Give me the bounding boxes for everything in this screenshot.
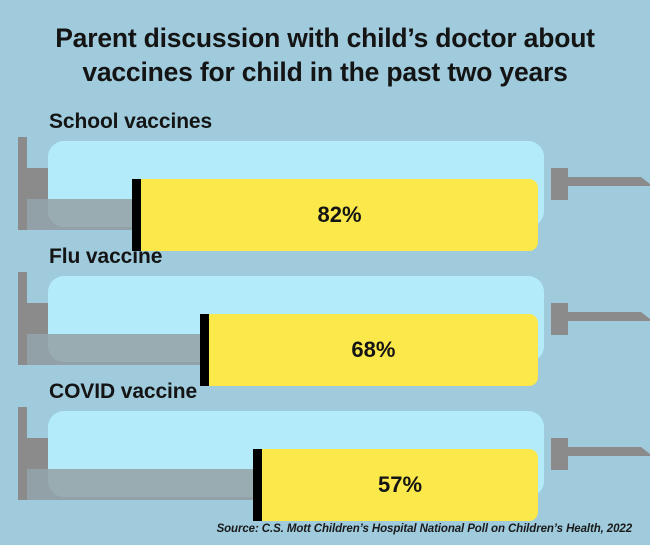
- syringe-row: COVID vaccine 57%: [0, 380, 650, 515]
- row-label: COVID vaccine: [49, 380, 197, 404]
- value-fill-bar: 68%: [209, 314, 538, 386]
- plunger-rod-inside-icon: [26, 199, 132, 230]
- infographic-canvas: Parent discussion with child’s doctor ab…: [0, 0, 650, 545]
- plunger-rod-inside-icon: [26, 334, 200, 365]
- page-title: Parent discussion with child’s doctor ab…: [0, 22, 650, 90]
- needle-hub-icon: [551, 438, 568, 470]
- syringe-barrel: 82%: [48, 141, 544, 227]
- syringe-barrel: 68%: [48, 276, 544, 362]
- needle-hub-icon: [551, 168, 568, 200]
- plunger-rod-inside-icon: [26, 469, 253, 500]
- plunger-seal-icon: [200, 314, 209, 386]
- needle-hub-icon: [551, 303, 568, 335]
- value-label: 82%: [141, 202, 538, 228]
- value-label: 57%: [262, 472, 538, 498]
- needle-icon: [567, 446, 650, 460]
- row-label: School vaccines: [49, 110, 212, 134]
- plunger-seal-icon: [253, 449, 262, 521]
- title-line-1: Parent discussion with child’s doctor ab…: [0, 22, 650, 56]
- syringe-barrel: 57%: [48, 411, 544, 497]
- needle-icon: [567, 176, 650, 190]
- value-fill-bar: 82%: [141, 179, 538, 251]
- syringe-row: Flu vaccine 68%: [0, 245, 650, 380]
- value-label: 68%: [209, 337, 538, 363]
- title-line-2: vaccines for child in the past two years: [0, 56, 650, 90]
- syringe-row: School vaccines 82%: [0, 110, 650, 245]
- value-fill-bar: 57%: [262, 449, 538, 521]
- needle-icon: [567, 311, 650, 325]
- source-citation: Source: C.S. Mott Children’s Hospital Na…: [217, 523, 632, 535]
- plunger-seal-icon: [132, 179, 141, 251]
